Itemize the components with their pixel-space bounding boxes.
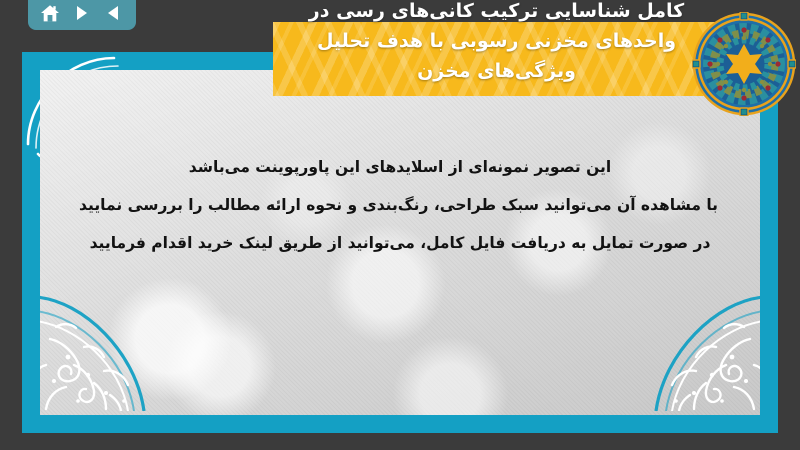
body-line-2: با مشاهده آن می‌توانید سبک طراحی، رنگ‌بن… — [82, 186, 718, 224]
slide-content-area: این تصویر نمونه‌ای از اسلایدهای این پاور… — [40, 70, 760, 415]
slide-canvas: کامل شناسایی ترکیب کانی‌های رسی در واحده… — [0, 0, 800, 450]
arabesque-corner-bottom-left-icon — [40, 261, 230, 415]
previous-arrow-icon — [105, 4, 123, 22]
title-banner: کامل شناسایی ترکیب کانی‌های رسی در واحده… — [273, 22, 720, 96]
arabesque-corner-bottom-right-icon — [570, 261, 760, 415]
previous-button[interactable] — [101, 1, 127, 25]
home-icon — [40, 4, 60, 23]
page-title: کامل شناسایی ترکیب کانی‌های رسی در واحده… — [273, 0, 720, 86]
slide-body-text: این تصویر نمونه‌ای از اسلایدهای این پاور… — [40, 148, 760, 262]
body-line-1: این تصویر نمونه‌ای از اسلایدهای این پاور… — [82, 148, 718, 186]
persian-medallion-ornament — [692, 12, 796, 116]
next-button[interactable] — [69, 1, 95, 25]
content-panel: این تصویر نمونه‌ای از اسلایدهای این پاور… — [22, 52, 778, 433]
home-button[interactable] — [37, 1, 63, 25]
navigation-bar — [28, 0, 136, 30]
next-arrow-icon — [73, 4, 91, 22]
body-line-3: در صورت تمایل به دریافت فایل کامل، می‌تو… — [82, 224, 718, 262]
